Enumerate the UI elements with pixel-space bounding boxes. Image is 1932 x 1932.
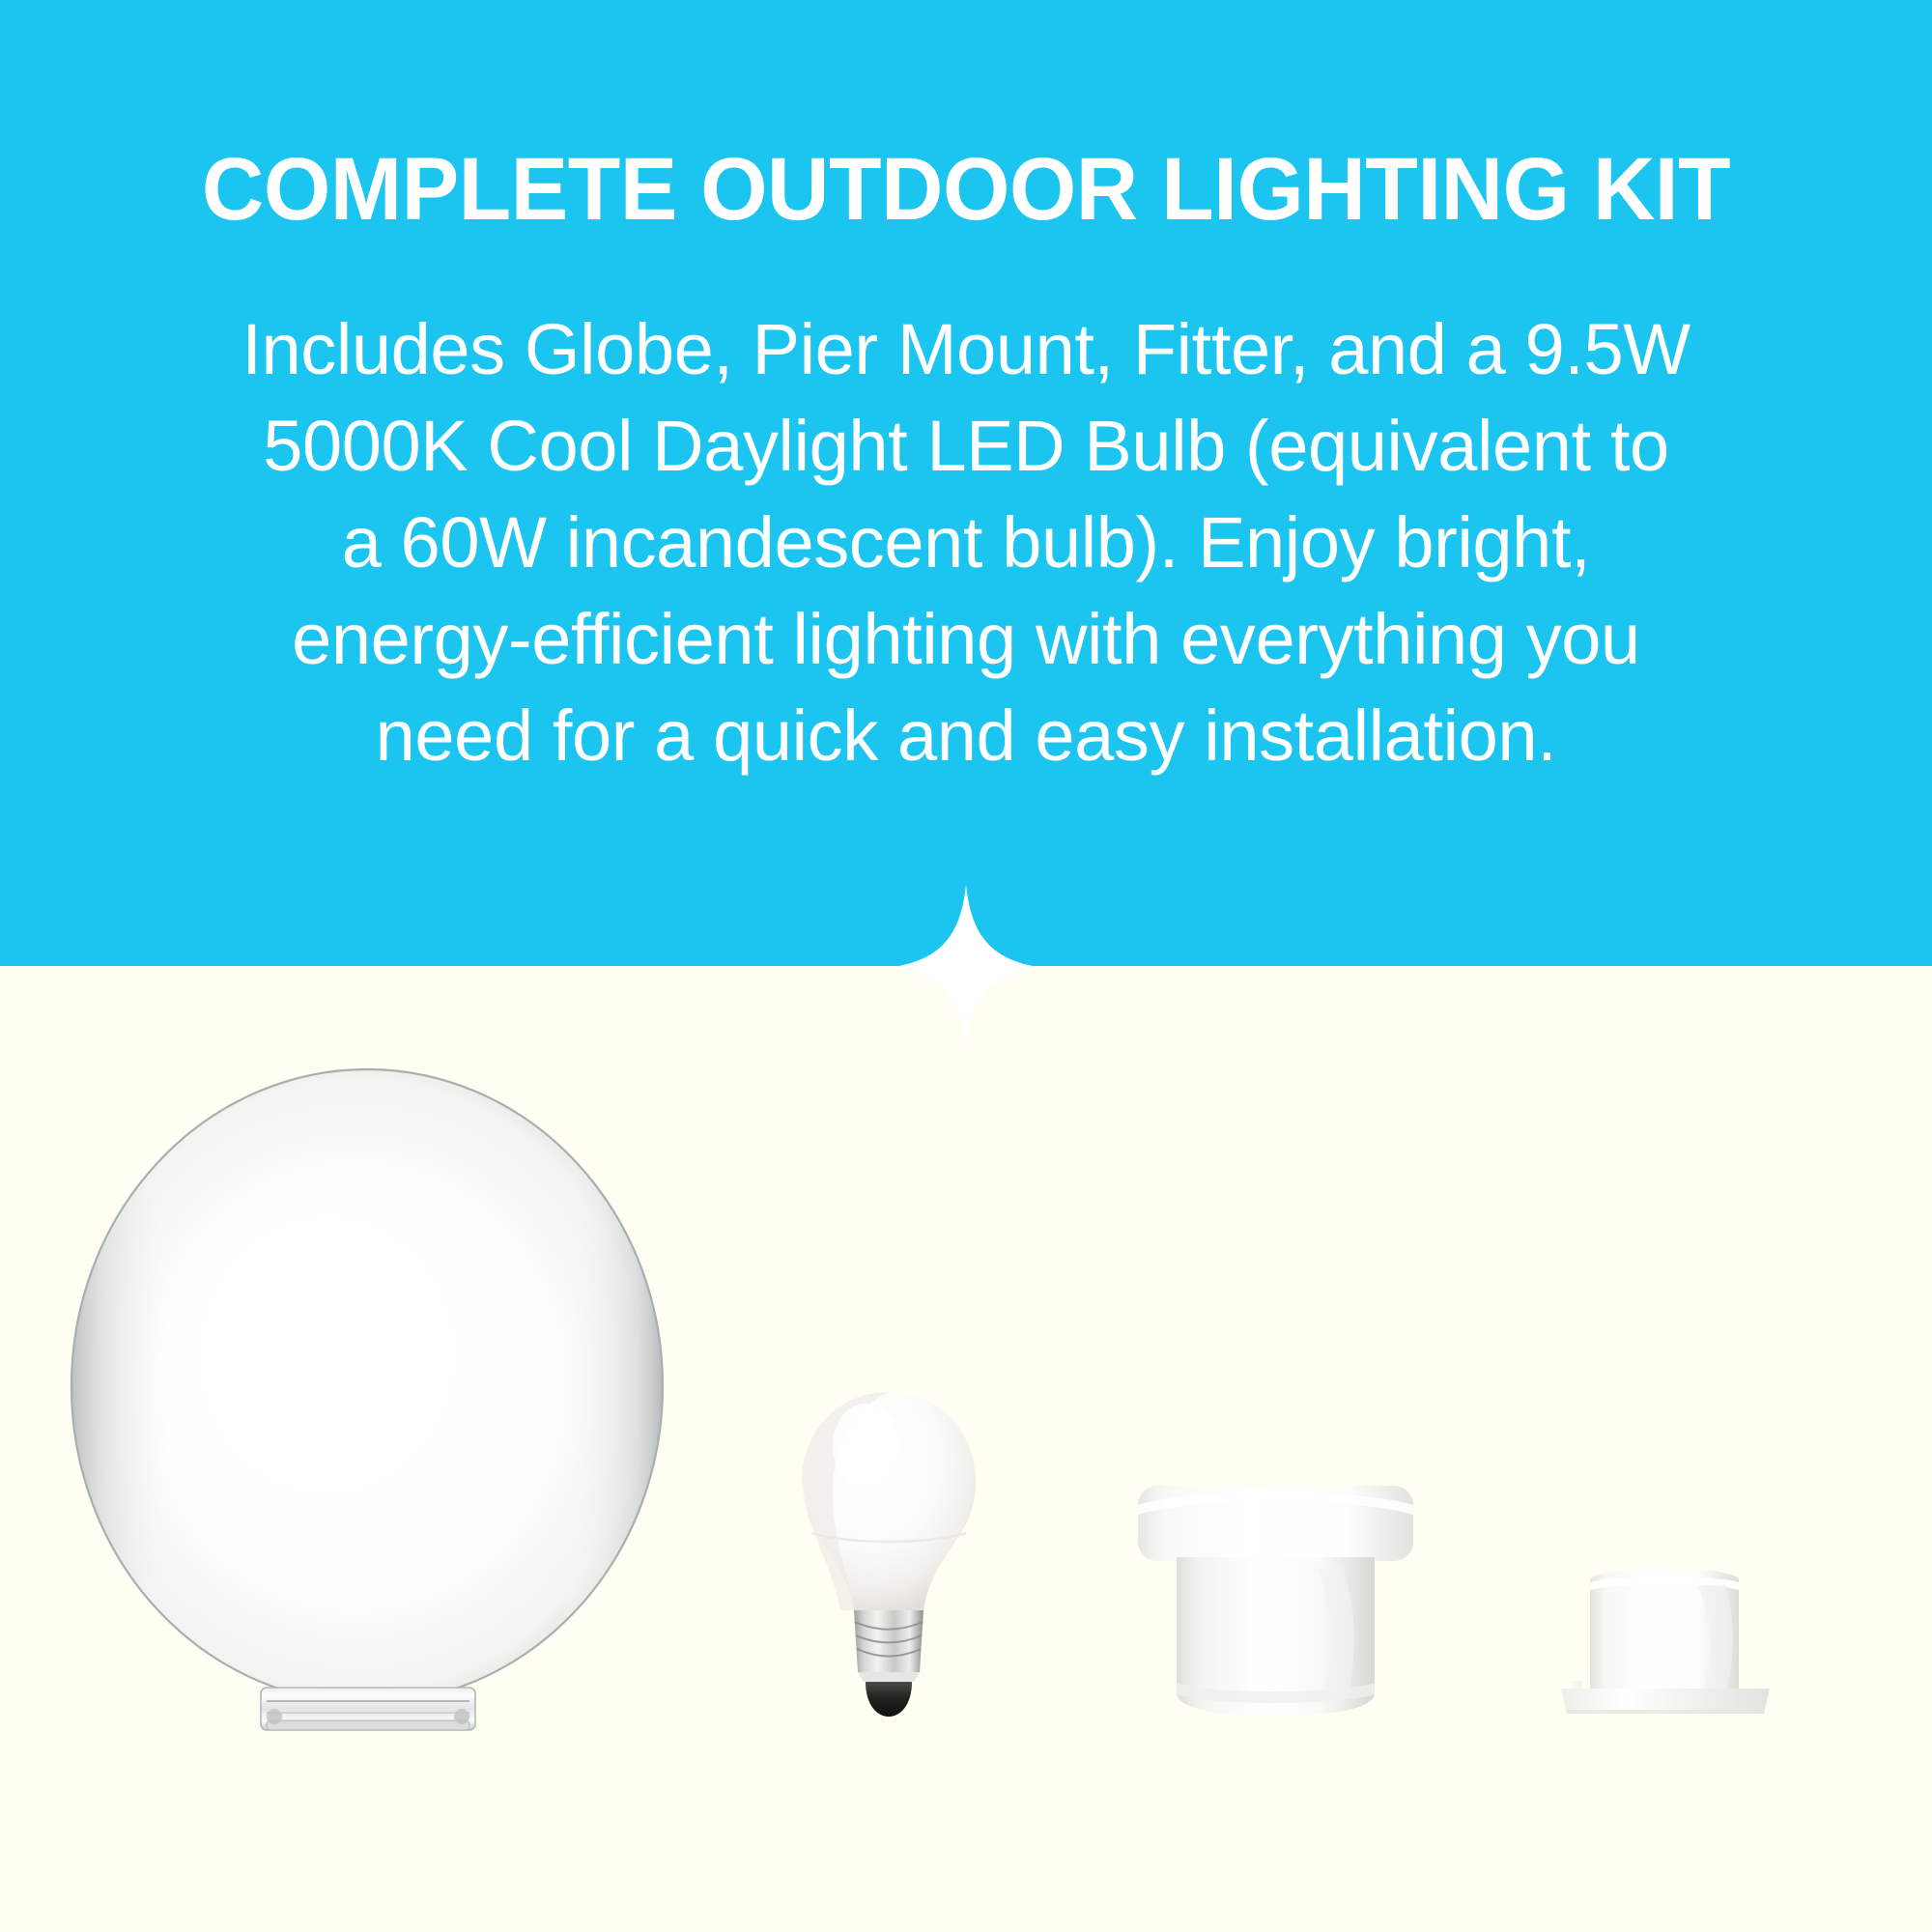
banner-description-line: energy-efficient lighting with everythin… <box>106 591 1826 688</box>
pier-mount-cap <box>1138 1486 1413 1561</box>
banner-description-line: a 60W incandescent bulb). Enjoy bright, <box>106 495 1826 591</box>
product-marketing-image: COMPLETE OUTDOOR LIGHTING KIT Includes G… <box>0 0 1932 1932</box>
globe-collar <box>261 1688 475 1730</box>
bulb-insulator-ring <box>858 1672 920 1682</box>
product-fitter <box>1553 1567 1777 1723</box>
banner-description-line: need for a quick and easy installation. <box>106 688 1826 784</box>
page-title: COMPLETE OUTDOOR LIGHTING KIT <box>29 143 1903 237</box>
bulb-contact-tip <box>866 1682 912 1717</box>
fitter-body <box>1590 1569 1739 1689</box>
pier-mount-body <box>1177 1557 1375 1716</box>
bulb-specular <box>833 1404 898 1489</box>
product-pier-mount <box>1128 1476 1423 1722</box>
globe-highlight <box>128 1133 572 1616</box>
bulb-screw-base <box>854 1610 923 1717</box>
product-globe <box>60 1067 678 1744</box>
banner-description: Includes Globe, Pier Mount, Fitter, and … <box>106 301 1826 784</box>
product-led-bulb <box>792 1386 985 1722</box>
hero-banner: COMPLETE OUTDOOR LIGHTING KIT Includes G… <box>0 0 1932 966</box>
banner-description-line: Includes Globe, Pier Mount, Fitter, and … <box>106 301 1826 398</box>
product-stage <box>0 966 1932 1932</box>
banner-description-line: 5000K Cool Daylight LED Bulb (equivalent… <box>106 398 1826 495</box>
